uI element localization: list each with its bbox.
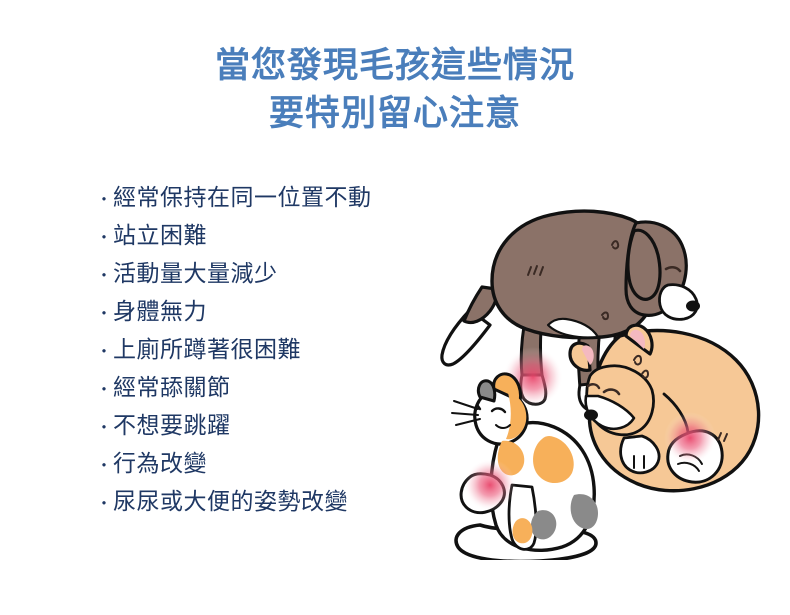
bullet-icon: ・: [96, 372, 113, 410]
list-item: ・ 不想要跳躍: [96, 406, 436, 444]
list-item-label: 經常舔關節: [113, 368, 231, 406]
list-item: ・ 尿尿或大便的姿勢改變: [96, 482, 436, 520]
pain-glow-shiba: [664, 412, 716, 464]
list-item: ・ 上廁所蹲著很困難: [96, 330, 436, 368]
bullet-icon: ・: [96, 410, 113, 448]
bullet-icon: ・: [96, 258, 113, 296]
bullet-icon: ・: [96, 334, 113, 372]
list-item-label: 上廁所蹲著很困難: [113, 330, 301, 368]
list-item-label: 站立困難: [113, 216, 207, 254]
list-item: ・ 站立困難: [96, 216, 436, 254]
symptom-list: ・ 經常保持在同一位置不動 ・ 站立困難 ・ 活動量大量減少 ・ 身體無力 ・ …: [96, 178, 436, 520]
bullet-icon: ・: [96, 182, 113, 220]
list-item-label: 身體無力: [113, 292, 207, 330]
list-item-label: 行為改變: [113, 444, 207, 482]
list-item: ・ 經常保持在同一位置不動: [96, 178, 436, 216]
list-item-label: 不想要跳躍: [113, 406, 231, 444]
pain-glow-cat: [464, 459, 516, 511]
title-line-2: 要特別留心注意: [0, 90, 790, 138]
list-item-label: 經常保持在同一位置不動: [113, 178, 372, 216]
title-line-1: 當您發現毛孩這些情況: [0, 42, 790, 90]
bullet-icon: ・: [96, 220, 113, 258]
bullet-icon: ・: [96, 296, 113, 334]
page-title: 當您發現毛孩這些情況 要特別留心注意: [0, 42, 790, 138]
list-item: ・ 身體無力: [96, 292, 436, 330]
bullet-icon: ・: [96, 448, 113, 486]
bullet-icon: ・: [96, 486, 113, 524]
list-item: ・ 經常舔關節: [96, 368, 436, 406]
slide-canvas: 當您發現毛孩這些情況 要特別留心注意 ・ 經常保持在同一位置不動 ・ 站立困難 …: [0, 0, 790, 615]
list-item: ・ 行為改變: [96, 444, 436, 482]
list-item-label: 活動量大量減少: [113, 254, 278, 292]
list-item-label: 尿尿或大便的姿勢改變: [113, 482, 348, 520]
pet-illustration-group: [430, 175, 780, 560]
list-item: ・ 活動量大量減少: [96, 254, 436, 292]
